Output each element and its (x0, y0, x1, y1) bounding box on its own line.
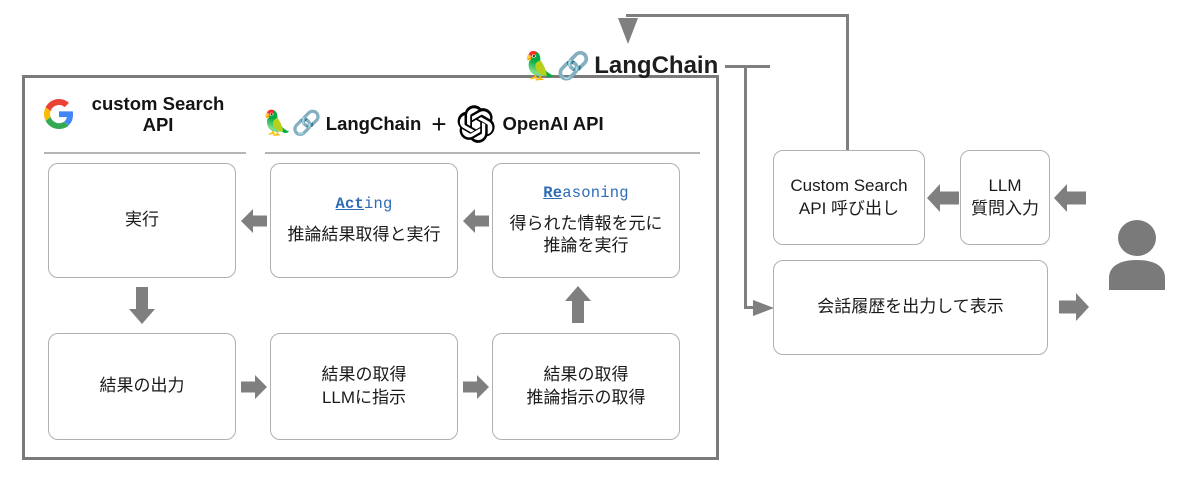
box-result-get-infer[interactable]: 結果の取得 推論指示の取得 (492, 333, 680, 440)
box-acting-title-bold: Act (335, 195, 364, 213)
box-result-get-llm-line1: 結果の取得 (322, 364, 407, 387)
langchain-title-label: LangChain (594, 52, 718, 80)
box-reasoning-text: 得られた情報を元に 推論を実行 (510, 213, 663, 259)
box-result-get-llm[interactable]: 結果の取得 LLMに指示 (270, 333, 458, 440)
separator-langchain-openai (265, 152, 700, 154)
separator-google (44, 152, 246, 154)
box-reasoning-title-bold: Re (543, 184, 562, 202)
box-custom-search-line1: Custom Search (790, 175, 907, 198)
connector-top-horizontal (626, 14, 849, 17)
header-langchain-openai: 🦜🔗 LangChain + OpenAI API (262, 105, 604, 143)
header-openai-label: OpenAI API (503, 113, 604, 135)
header-google-custom-search: custom Search API (44, 93, 249, 136)
box-llm-input-line2: 質問入力 (971, 198, 1039, 221)
box-result-get-infer-line1: 結果の取得 (527, 364, 646, 387)
parrot-chain-title-icon: 🦜🔗 (523, 53, 590, 80)
openai-logo-icon (457, 105, 495, 143)
box-reasoning-title-rest: asoning (562, 184, 629, 202)
box-execute[interactable]: 実行 (48, 163, 236, 278)
box-history-display-text: 会話履歴を出力して表示 (817, 296, 1004, 319)
box-custom-search-line2: API 呼び出し (790, 198, 907, 221)
box-acting-text: 推論結果取得と実行 (288, 224, 441, 247)
box-acting[interactable]: Acting 推論結果取得と実行 (270, 163, 458, 278)
box-reasoning[interactable]: Reasoning 得られた情報を元に 推論を実行 (492, 163, 680, 278)
box-result-get-llm-text: 結果の取得 LLMに指示 (322, 364, 407, 410)
user-avatar-icon (1105, 218, 1169, 292)
plus-sign: + (431, 111, 446, 137)
box-execute-text: 実行 (125, 209, 159, 232)
box-reasoning-title: Reasoning (543, 183, 629, 204)
box-llm-input-line1: LLM (971, 175, 1039, 198)
box-acting-title: Acting (335, 194, 392, 215)
arrow-execute-to-result-output (127, 285, 157, 325)
arrow-history-to-user (1058, 291, 1090, 323)
arrow-down-into-langchain-title (616, 16, 640, 46)
box-reasoning-line1: 得られた情報を元に (510, 213, 663, 236)
box-llm-input[interactable]: LLM 質問入力 (960, 150, 1050, 245)
diagram-canvas: custom Search API 🦜🔗 LangChain + OpenAI … (0, 0, 1190, 478)
google-label-line2: API (143, 114, 174, 135)
box-result-output-text: 結果の出力 (100, 375, 185, 398)
google-g-icon (44, 99, 74, 129)
arrow-llm-input-to-custom-search (926, 182, 960, 214)
connector-title-down (744, 65, 747, 309)
arrow-llm-instruct-to-infer-get (462, 372, 490, 402)
box-custom-search-call-text: Custom Search API 呼び出し (790, 175, 907, 221)
langchain-title: 🦜🔗 LangChain (523, 52, 718, 80)
box-history-display[interactable]: 会話履歴を出力して表示 (773, 260, 1048, 355)
box-result-get-infer-text: 結果の取得 推論指示の取得 (527, 364, 646, 410)
connector-title-right (725, 65, 770, 68)
header-google-label: custom Search API (78, 93, 238, 136)
google-label-line1: custom Search (92, 93, 225, 114)
arrow-reasoning-to-acting (462, 206, 490, 236)
connector-customsearch-up (846, 14, 849, 152)
box-llm-input-text: LLM 質問入力 (971, 175, 1039, 221)
arrow-acting-to-execute (240, 206, 268, 236)
box-acting-title-rest: ing (364, 195, 393, 213)
box-custom-search-call[interactable]: Custom Search API 呼び出し (773, 150, 925, 245)
header-langchain-label: LangChain (326, 113, 422, 135)
parrot-chain-icon: 🦜🔗 (262, 112, 322, 136)
arrow-result-output-to-llm-instruct (240, 372, 268, 402)
box-result-output[interactable]: 結果の出力 (48, 333, 236, 440)
box-reasoning-line2: 推論を実行 (510, 235, 663, 258)
box-result-get-llm-line2: LLMに指示 (322, 387, 407, 410)
arrow-user-to-llm-input (1053, 182, 1087, 214)
box-result-get-infer-line2: 推論指示の取得 (527, 387, 646, 410)
arrow-infer-get-to-reasoning (563, 285, 593, 325)
